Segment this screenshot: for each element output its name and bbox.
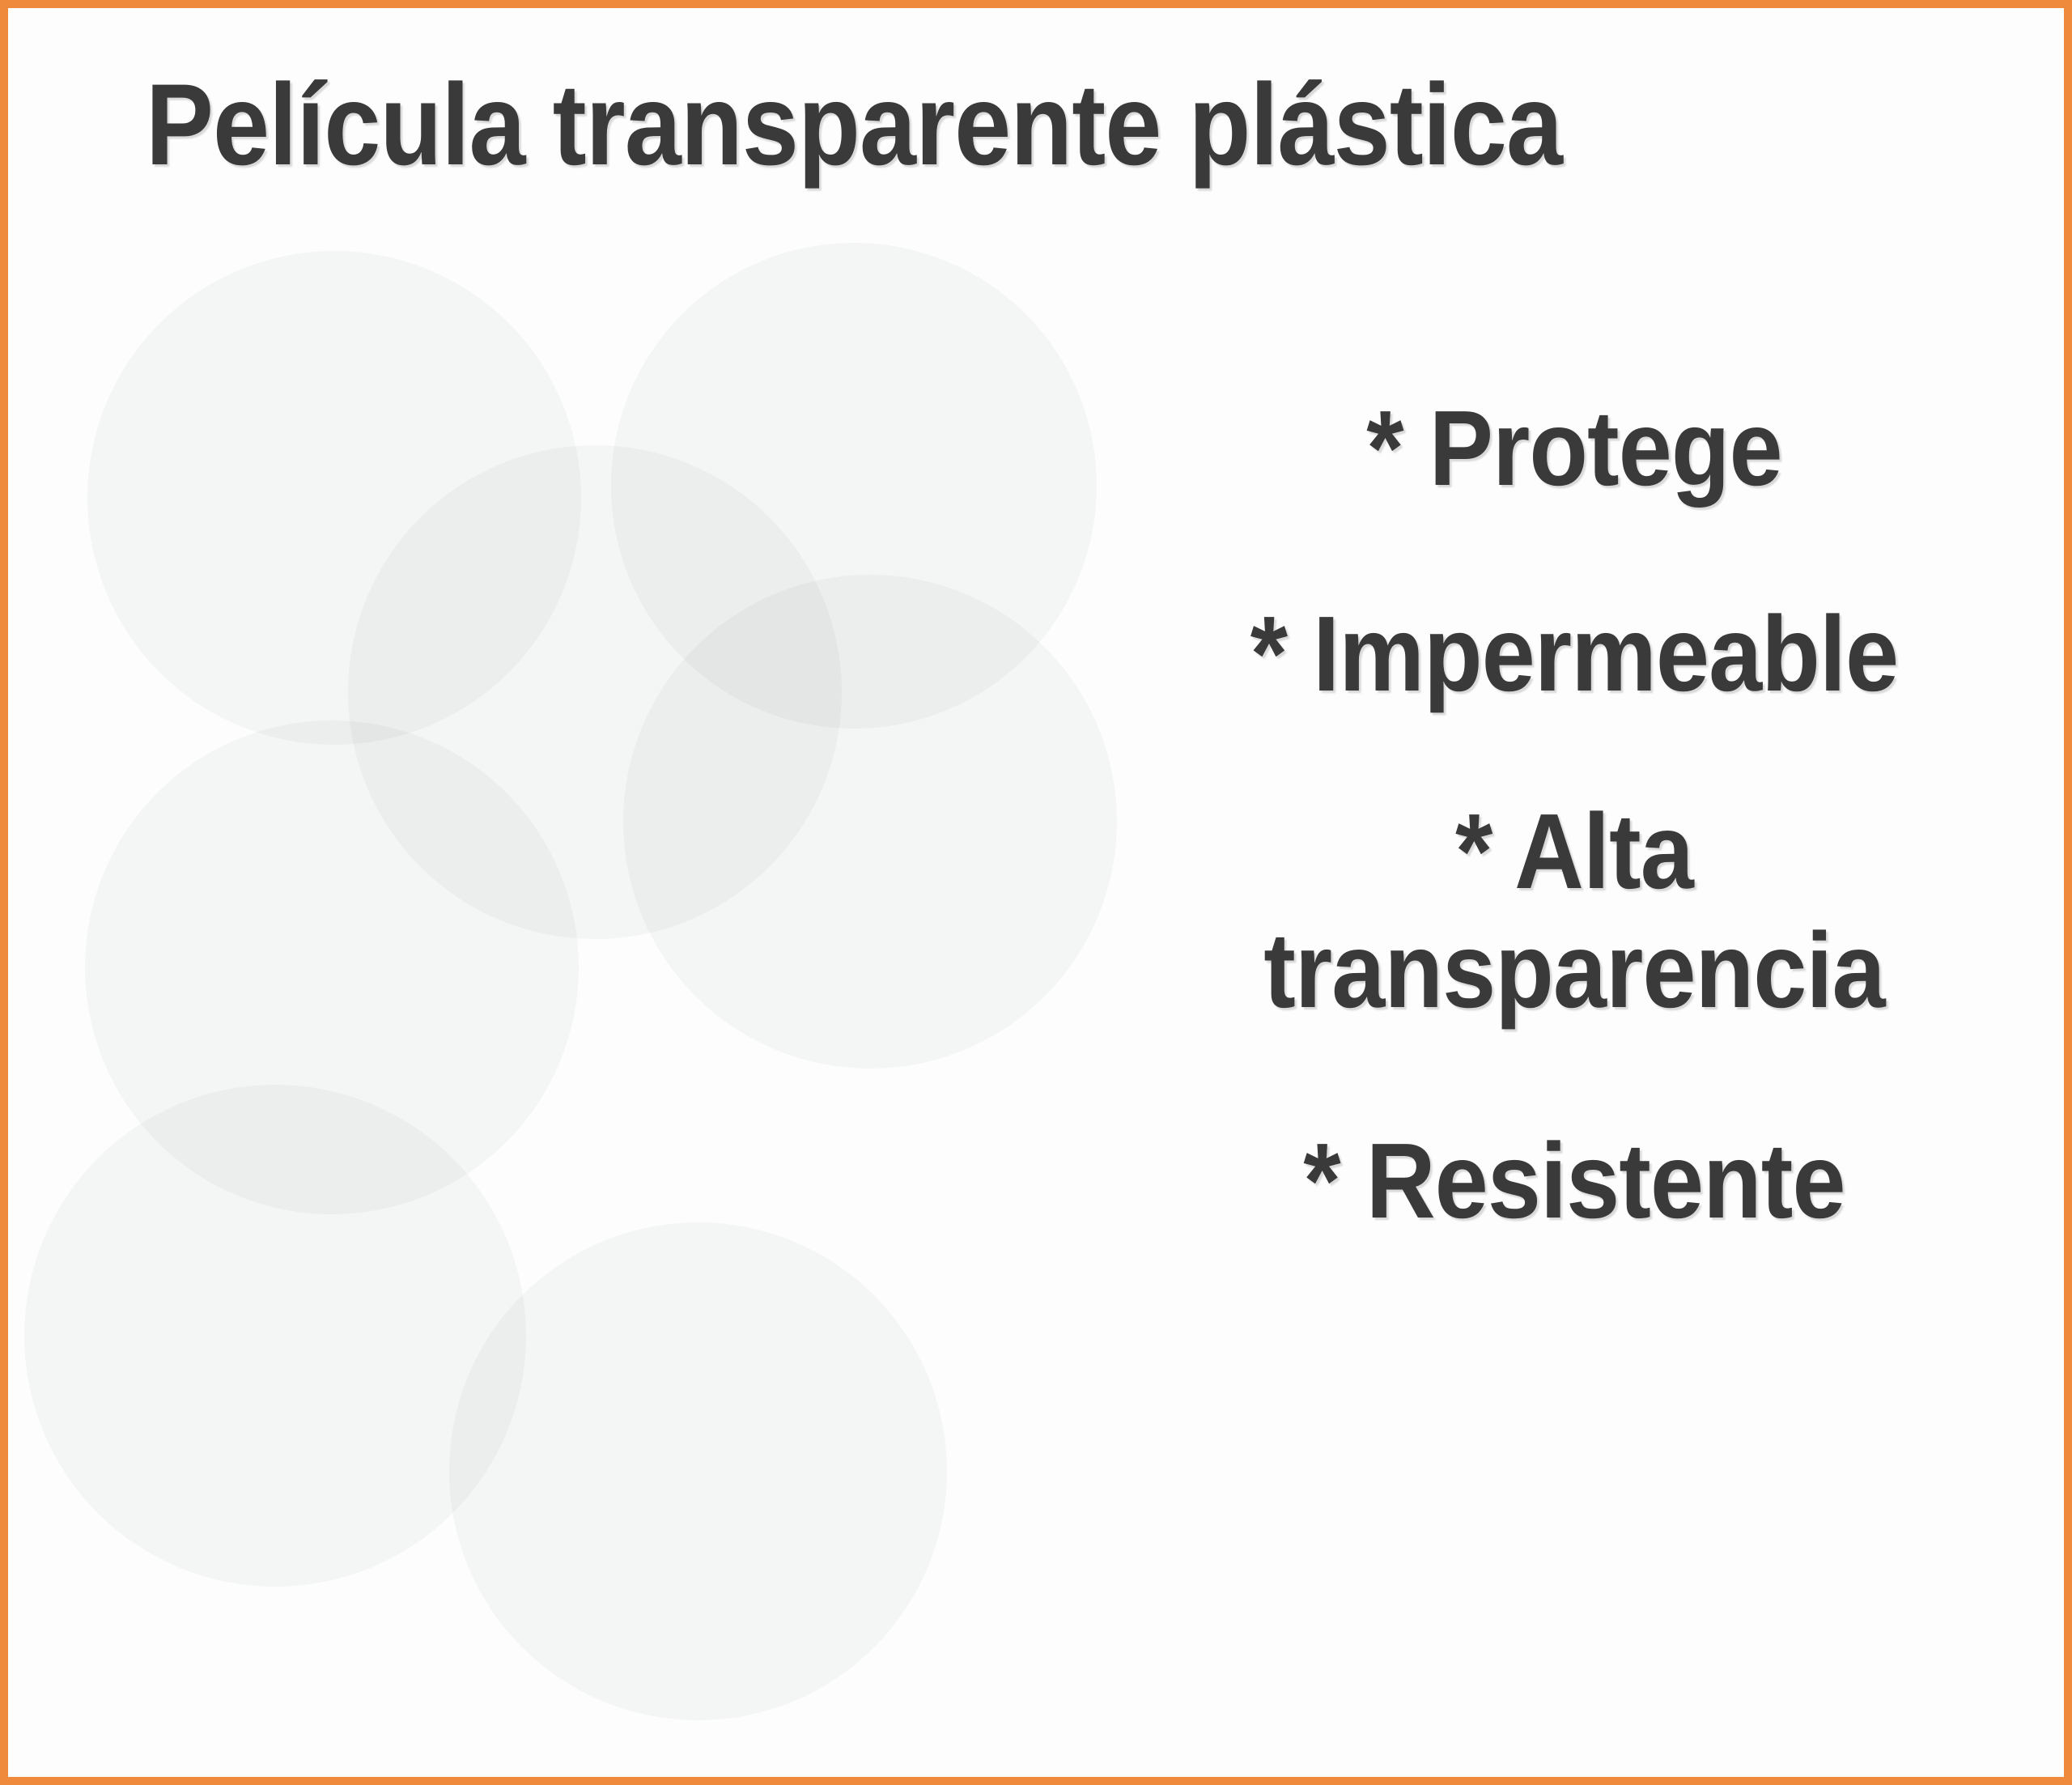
decorative-circle bbox=[85, 720, 579, 1214]
decorative-circle bbox=[449, 1222, 947, 1720]
feature-item-alta-transparencia: * Alta transparencia bbox=[1170, 792, 1979, 1031]
decorative-circle bbox=[24, 1085, 526, 1587]
feature-item-protege: * Protege bbox=[1170, 389, 1979, 508]
bubble-cluster bbox=[8, 8, 1190, 1785]
decorative-circle bbox=[623, 575, 1117, 1069]
decorative-circle bbox=[348, 445, 842, 939]
spacer bbox=[1125, 714, 2023, 792]
feature-list: * Protege * Impermeable * Alta transpare… bbox=[1125, 389, 2023, 1241]
slide-canvas: Película transparente plástica * Protege… bbox=[0, 0, 2072, 1785]
decorative-circle bbox=[87, 251, 581, 745]
spacer bbox=[1125, 1031, 2023, 1121]
feature-item-impermeable: * Impermeable bbox=[1170, 594, 1979, 714]
page-title: Película transparente plástica bbox=[146, 66, 1713, 185]
spacer bbox=[1125, 508, 2023, 594]
feature-item-resistente: * Resistente bbox=[1170, 1121, 1979, 1241]
decorative-circle bbox=[611, 243, 1097, 729]
